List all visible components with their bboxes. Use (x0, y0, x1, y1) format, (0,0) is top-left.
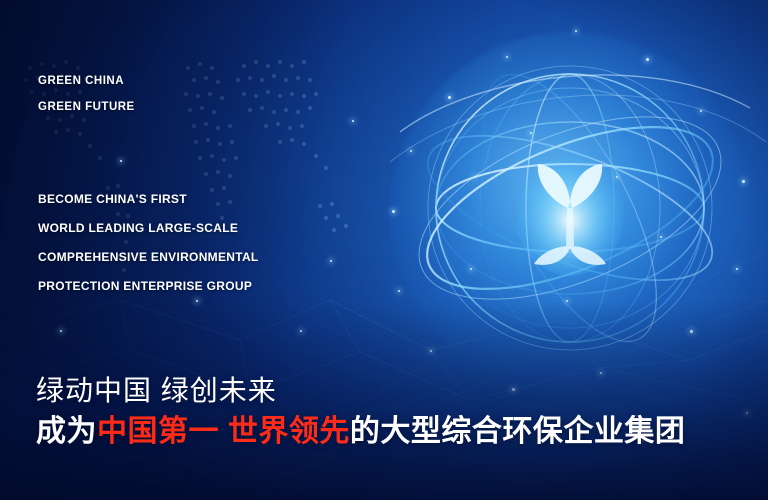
english-tagline-line: GREEN FUTURE (38, 94, 135, 120)
english-statement-line: BECOME CHINA'S FIRST (38, 185, 259, 214)
chinese-headline: 绿动中国 绿创未来 成为中国第一 世界领先的大型综合环保企业集团 (36, 372, 756, 454)
english-statement-line: COMPREHENSIVE ENVIRONMENTAL (38, 243, 259, 272)
english-statement: BECOME CHINA'S FIRST WORLD LEADING LARGE… (38, 185, 259, 301)
headline-highlight: 中国第一 世界领先 (97, 415, 350, 448)
english-tagline-top: GREEN CHINA GREEN FUTURE (38, 68, 135, 120)
english-tagline-line: GREEN CHINA (38, 68, 135, 94)
english-statement-line: PROTECTION ENTERPRISE GROUP (38, 272, 259, 301)
chinese-headline-line1: 绿动中国 绿创未来 (36, 372, 756, 410)
headline-prefix: 成为 (36, 415, 97, 448)
banner-image: GREEN CHINA GREEN FUTURE BECOME CHINA'S … (0, 0, 768, 500)
chinese-headline-line2: 成为中国第一 世界领先的大型综合环保企业集团 (36, 410, 756, 454)
headline-suffix: 的大型综合环保企业集团 (350, 415, 686, 448)
english-statement-line: WORLD LEADING LARGE-SCALE (38, 214, 259, 243)
